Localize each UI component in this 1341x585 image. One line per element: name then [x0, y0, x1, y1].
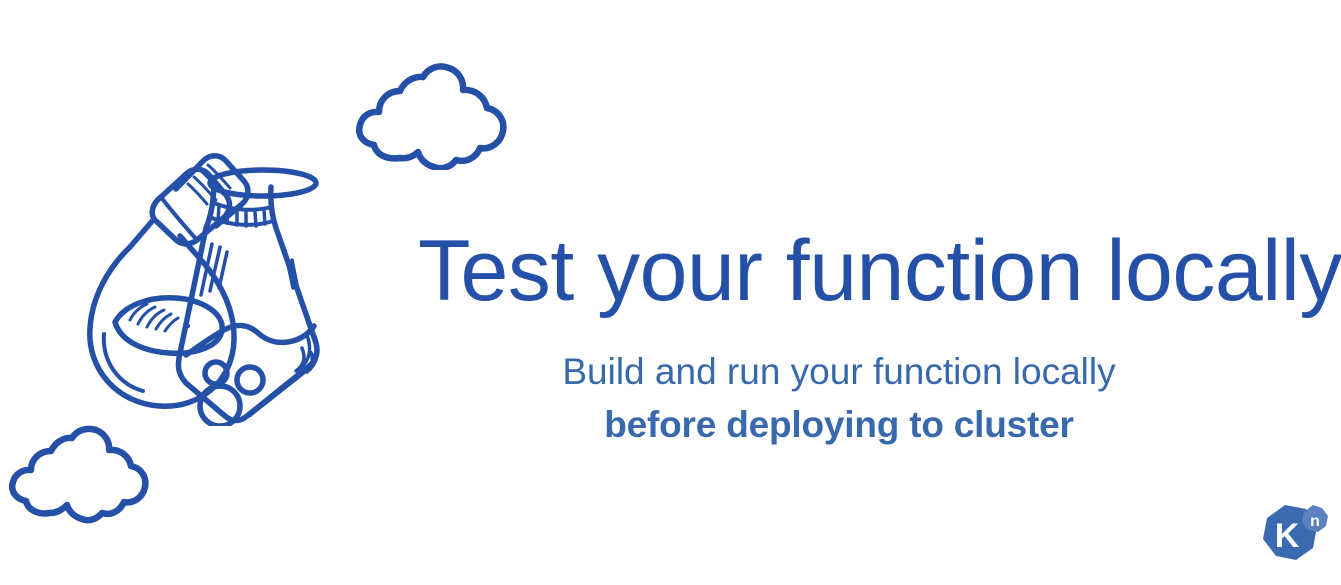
text-block: Test your function locally Build and run… [418, 228, 1260, 451]
round-bottom-flask [90, 148, 248, 406]
knative-letter-k: K [1275, 517, 1300, 555]
cloud-top-icon [352, 62, 514, 170]
slide-canvas: Test your function locally Build and run… [0, 0, 1341, 585]
laboratory-flasks-illustration [68, 148, 380, 426]
subtitle-line-1: Build and run your function locally [418, 346, 1260, 399]
erlenmeyer-flask [178, 170, 317, 426]
cloud-bottom-icon [6, 424, 158, 524]
subtitle-line-2: before deploying to cluster [418, 399, 1260, 452]
subtitle-group: Build and run your function locally befo… [418, 346, 1260, 451]
knative-letter-n: n [1310, 513, 1320, 530]
knative-logo: K n [1258, 503, 1330, 573]
page-title: Test your function locally [418, 228, 1260, 314]
